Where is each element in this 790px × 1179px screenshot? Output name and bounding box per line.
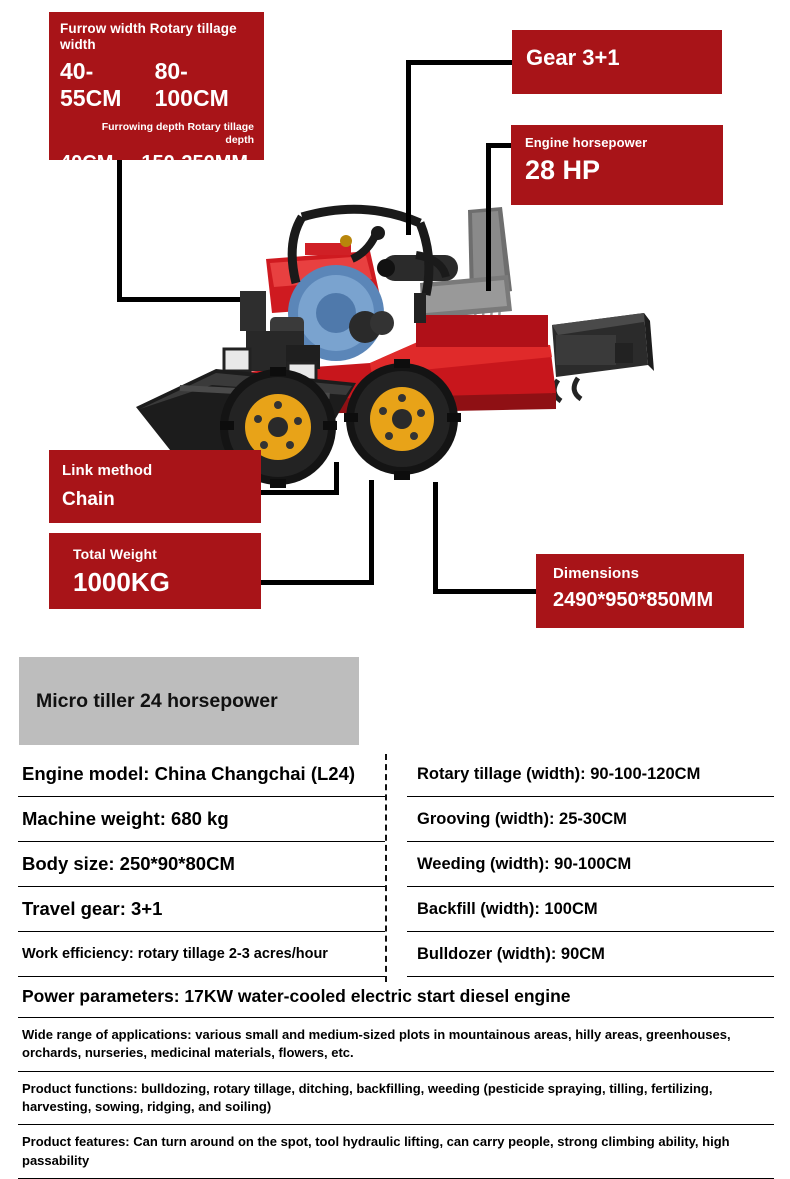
furrow-caption: Furrow width Rotary tillage width: [60, 21, 254, 52]
spec-body-size: Body size: 250*90*80CM: [22, 853, 235, 875]
table-row: Machine weight: 680 kg: [18, 797, 385, 842]
leader-line-weight-vertical: [369, 480, 374, 585]
table-row: Backfill (width): 100CM: [407, 887, 774, 932]
leader-line-link-horizontal: [258, 490, 339, 495]
spec-functions: Product functions: bulldozing, rotary ti…: [22, 1080, 772, 1117]
spec-features: Product features: Can turn around on the…: [22, 1133, 772, 1170]
specification-table: Engine model: China Changchai (L24) Mach…: [18, 752, 774, 1179]
spec-machine-weight: Machine weight: 680 kg: [22, 808, 229, 830]
dimensions-caption: Dimensions: [553, 565, 744, 582]
spec-engine-model: Engine model: China Changchai (L24): [22, 763, 355, 785]
table-row: Product functions: bulldozing, rotary ti…: [18, 1072, 774, 1126]
table-row: Work efficiency: rotary tillage 2-3 acre…: [18, 932, 385, 977]
table-row: Power parameters: 17KW water-cooled elec…: [18, 977, 774, 1018]
table-row: Weeding (width): 90-100CM: [407, 842, 774, 887]
spec-power-parameters: Power parameters: 17KW water-cooled elec…: [22, 985, 772, 1009]
spec-applications: Wide range of applications: various smal…: [22, 1026, 772, 1063]
callout-furrow-width: Furrow width Rotary tillage width 40-55C…: [49, 12, 264, 160]
control-knob: [371, 226, 385, 240]
link-method-caption: Link method: [62, 462, 261, 479]
product-title-band: Micro tiller 24 horsepower: [19, 657, 359, 745]
table-row: Rotary tillage (width): 90-100-120CM: [407, 752, 774, 797]
leader-line-dimensions-vertical: [433, 482, 438, 594]
leader-line-dimensions-horizontal: [433, 589, 541, 594]
furrow-width-value: 40-55CM: [60, 58, 148, 112]
callout-total-weight: Total Weight 1000KG: [49, 533, 261, 609]
total-weight-caption: Total Weight: [73, 546, 261, 562]
total-weight-value: 1000KG: [73, 569, 261, 596]
spec-bulldozer-width: Bulldozer (width): 90CM: [417, 945, 605, 964]
table-row: Body size: 250*90*80CM: [18, 842, 385, 887]
spec-grooving-width: Grooving (width): 25-30CM: [417, 810, 627, 829]
table-row: Wide range of applications: various smal…: [18, 1018, 774, 1072]
column-divider-dashed: [385, 754, 387, 982]
table-row: Bulldozer (width): 90CM: [407, 932, 774, 977]
callout-dimensions: Dimensions 2490*950*850MM: [536, 554, 744, 628]
callout-gear: Gear 3+1: [512, 30, 722, 94]
horsepower-caption: Engine horsepower: [525, 136, 723, 151]
callout-link-method: Link method Chain: [49, 450, 261, 523]
leader-line-link-vertical: [334, 462, 339, 495]
rotary-depth-value: 150-250MM: [141, 152, 248, 175]
spec-weeding-width: Weeding (width): 90-100CM: [417, 855, 631, 874]
leader-line-hp-vertical: [486, 143, 491, 291]
horsepower-value: 28 HP: [525, 156, 723, 184]
table-row: Grooving (width): 25-30CM: [407, 797, 774, 842]
leader-line-gear-vertical: [406, 60, 411, 235]
dimensions-value: 2490*950*850MM: [553, 590, 744, 611]
spec-rotary-tillage-width: Rotary tillage (width): 90-100-120CM: [417, 765, 700, 784]
furrow-values-row: 40-55CM 80-100CM: [60, 58, 254, 112]
table-row: Product features: Can turn around on the…: [18, 1125, 774, 1179]
furrowing-depth-value: 40CM: [60, 152, 113, 175]
link-method-value: Chain: [62, 490, 261, 510]
leader-line-gear-horizontal: [406, 60, 514, 65]
spec-backfill-width: Backfill (width): 100CM: [417, 900, 598, 919]
table-row: Engine model: China Changchai (L24): [18, 752, 385, 797]
spec-column-left: Engine model: China Changchai (L24) Mach…: [18, 752, 385, 977]
furrow-depth-caption: Furrowing depth Rotary tillage depth: [60, 121, 254, 147]
leader-line-weight-horizontal: [258, 580, 374, 585]
gear-value: Gear 3+1: [526, 46, 722, 69]
rotary-width-value: 80-100CM: [155, 58, 254, 112]
spec-work-efficiency: Work efficiency: rotary tillage 2-3 acre…: [22, 946, 328, 962]
table-row: Travel gear: 3+1: [18, 887, 385, 932]
page-title: Micro tiller 24 horsepower: [19, 690, 278, 713]
spec-column-right: Rotary tillage (width): 90-100-120CM Gro…: [407, 752, 774, 977]
leader-line-furrow-vertical: [117, 158, 122, 301]
wheel-rear: [346, 363, 458, 475]
furrow-depth-values-row: 40CM 150-250MM: [60, 152, 254, 175]
leader-line-furrow-horizontal: [117, 297, 240, 302]
spec-wide-rows: Power parameters: 17KW water-cooled elec…: [18, 977, 774, 1179]
callout-engine-horsepower: Engine horsepower 28 HP: [511, 125, 723, 205]
spec-travel-gear: Travel gear: 3+1: [22, 898, 162, 920]
spec-two-columns: Engine model: China Changchai (L24) Mach…: [18, 752, 774, 977]
